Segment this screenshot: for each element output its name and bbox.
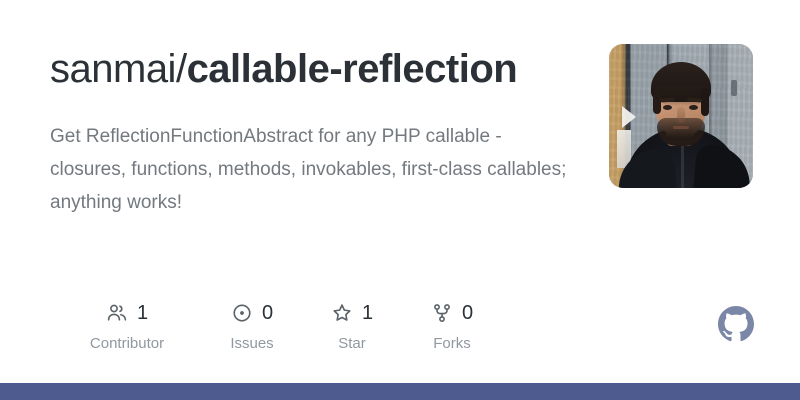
repo-owner: sanmai/: [50, 47, 187, 91]
stat-stars-value: 1: [362, 302, 373, 324]
repo-content: sanmai/callable-reflection Get Reflectio…: [50, 44, 595, 219]
avatar-person-sideburn-right: [701, 88, 709, 116]
stat-contributors-top: 1: [106, 300, 148, 326]
repo-description: Get ReflectionFunctionAbstract for any P…: [50, 120, 570, 219]
repo-forked-icon: [431, 302, 453, 324]
avatar-wall-notch: [731, 80, 737, 96]
avatar-white-triangle: [622, 106, 636, 128]
stat-forks-top: 0: [431, 300, 473, 326]
github-mark-icon: [718, 306, 754, 342]
stat-contributors-label: Contributor: [90, 335, 164, 352]
stat-contributors-value: 1: [137, 302, 148, 324]
star-icon: [331, 302, 353, 324]
stat-forks: 0 Forks: [402, 300, 502, 352]
stat-stars-label: Star: [338, 335, 366, 352]
stat-stars-top: 1: [331, 300, 373, 326]
stat-forks-label: Forks: [433, 335, 471, 352]
stat-stars: 1 Star: [302, 300, 402, 352]
stat-issues: 0 Issues: [202, 300, 302, 352]
avatar-person-shirt-placket: [681, 144, 684, 188]
bottom-accent-bar: [0, 383, 800, 400]
stat-forks-value: 0: [462, 302, 473, 324]
repo-name: callable-reflection: [187, 47, 518, 91]
avatar-person-nose: [677, 107, 685, 123]
avatar-person-eye-left: [663, 105, 672, 110]
avatar: [609, 44, 753, 188]
avatar-photo: [609, 44, 753, 188]
stat-issues-value: 0: [262, 302, 273, 324]
stat-issues-top: 0: [231, 300, 273, 326]
repo-social-preview-card: sanmai/callable-reflection Get Reflectio…: [0, 0, 800, 400]
avatar-person-mouth: [673, 126, 689, 129]
people-icon: [106, 302, 128, 324]
issue-opened-icon: [231, 302, 253, 324]
avatar-person-eye-right: [689, 105, 698, 110]
stat-issues-label: Issues: [230, 335, 273, 352]
repo-stats: 1 Contributor 0 Issues: [52, 300, 502, 352]
page-title: sanmai/callable-reflection: [50, 44, 595, 94]
stat-contributors: 1 Contributor: [52, 300, 202, 352]
